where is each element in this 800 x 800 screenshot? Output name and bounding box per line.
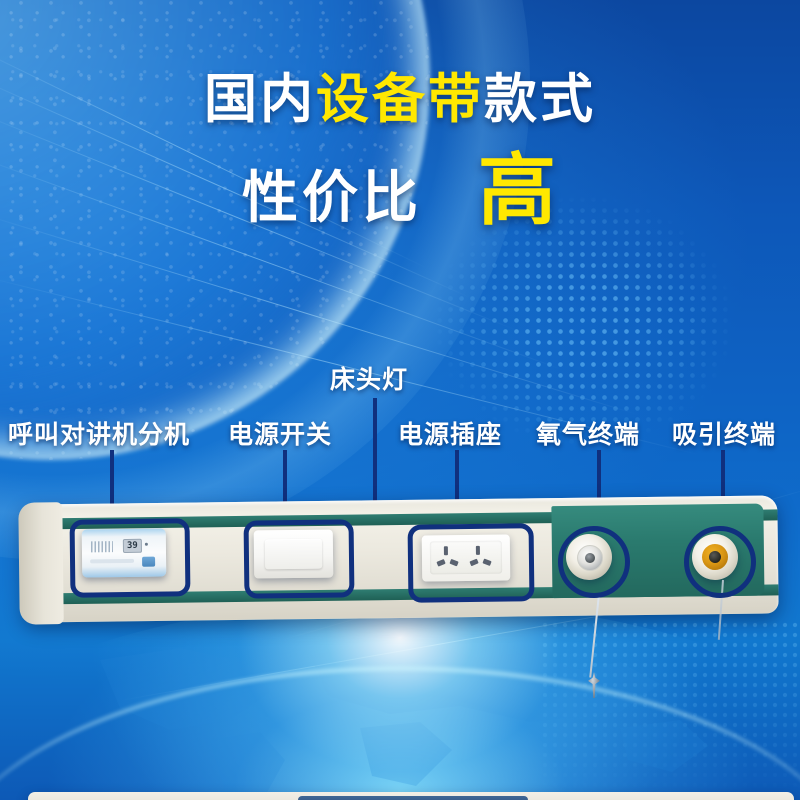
- panel-lower-rail: [28, 792, 794, 800]
- panel-lower-blue-section: [298, 796, 528, 800]
- headline-line-1: 国内设备带款式: [0, 72, 800, 128]
- highlight-box-intercom: [70, 518, 191, 597]
- headline-line2-big: 高: [478, 146, 558, 234]
- highlight-box-power-switch: [244, 519, 355, 598]
- callout-suction-terminal: 吸引终端: [672, 415, 776, 451]
- callout-intercom: 呼叫对讲机分机: [8, 415, 190, 451]
- headline-line1-part2: 款式: [484, 70, 596, 129]
- headline-block: 国内设备带款式 性价比高: [0, 72, 800, 232]
- callout-power-socket: 电源插座: [398, 415, 502, 451]
- callout-power-switch: 电源开关: [228, 415, 332, 451]
- headline-line1-accent: 设备带: [316, 70, 484, 129]
- panel-left-end-cap: [18, 502, 63, 625]
- headline-line1-part1: 国内: [204, 70, 316, 129]
- headline-line2-text: 性价比: [242, 166, 422, 229]
- poster-canvas: 国内设备带款式 性价比高 呼叫对讲机分机 电源开关 床头灯 电源插座 氧气终端 …: [0, 0, 800, 800]
- callout-oxygen-terminal: 氧气终端: [536, 415, 640, 451]
- callout-bed-lamp: 床头灯: [330, 360, 408, 396]
- headline-line-2: 性价比高: [0, 150, 800, 232]
- highlight-box-power-socket: [408, 523, 535, 603]
